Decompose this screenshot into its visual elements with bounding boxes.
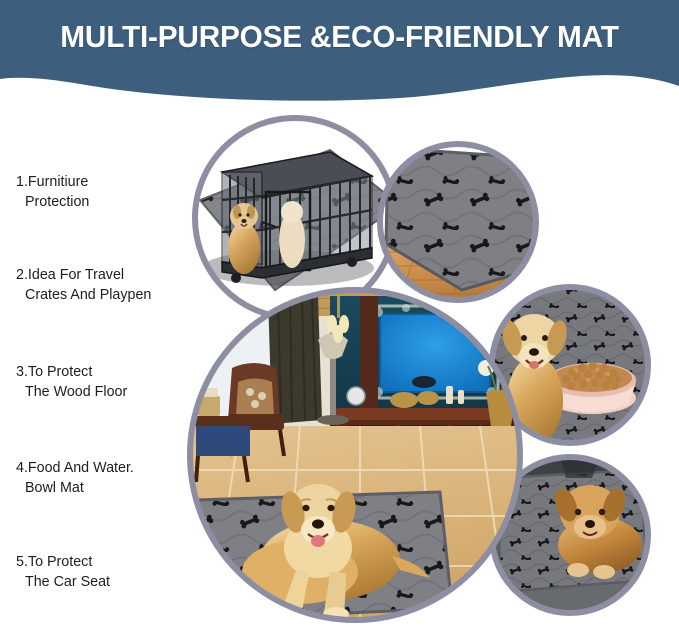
page-title: MULTI-PURPOSE &ECO-FRIENDLY MAT xyxy=(14,19,666,55)
list-item: 5.To Protect The Car Seat xyxy=(16,552,110,592)
feature-3-line-1: 3.To Protect xyxy=(16,362,127,382)
photo-mat-on-wood-floor xyxy=(380,144,536,300)
list-item: 1.Furnitiure Protection xyxy=(16,172,89,212)
feature-1-line-1: 1.Furnitiure xyxy=(16,172,89,192)
list-item: 2.Idea For Travel Crates And Playpen xyxy=(16,265,151,305)
feature-2-line-1: 2.Idea For Travel xyxy=(16,265,151,285)
feature-3-line-2: The Wood Floor xyxy=(16,382,127,402)
photo-living-room-dog xyxy=(190,290,524,621)
photo-ring-wood-floor xyxy=(380,144,536,300)
list-item: 4.Food And Water. Bowl Mat xyxy=(16,458,134,498)
feature-4-line-2: Bowl Mat xyxy=(16,478,134,498)
feature-5-line-2: The Car Seat xyxy=(16,572,110,592)
photo-dog-in-crate xyxy=(195,118,400,318)
feature-4-line-1: 4.Food And Water. xyxy=(16,458,134,478)
header-banner: MULTI-PURPOSE &ECO-FRIENDLY MAT xyxy=(0,0,679,108)
feature-5-line-1: 5.To Protect xyxy=(16,552,110,572)
list-item: 3.To Protect The Wood Floor xyxy=(16,362,127,402)
golden-retriever xyxy=(242,484,430,621)
photo-puppy-on-car-seat xyxy=(492,457,648,613)
feature-1-line-2: Protection xyxy=(16,192,89,212)
photo-ring-car-seat xyxy=(492,457,648,613)
photo-ring-crate xyxy=(195,118,395,318)
photo-ring-food-bowl xyxy=(492,287,648,443)
photo-dog-with-food-bowl xyxy=(492,287,648,444)
photo-ring-living-room xyxy=(190,290,520,620)
feature-2-line-2: Crates And Playpen xyxy=(16,285,151,305)
